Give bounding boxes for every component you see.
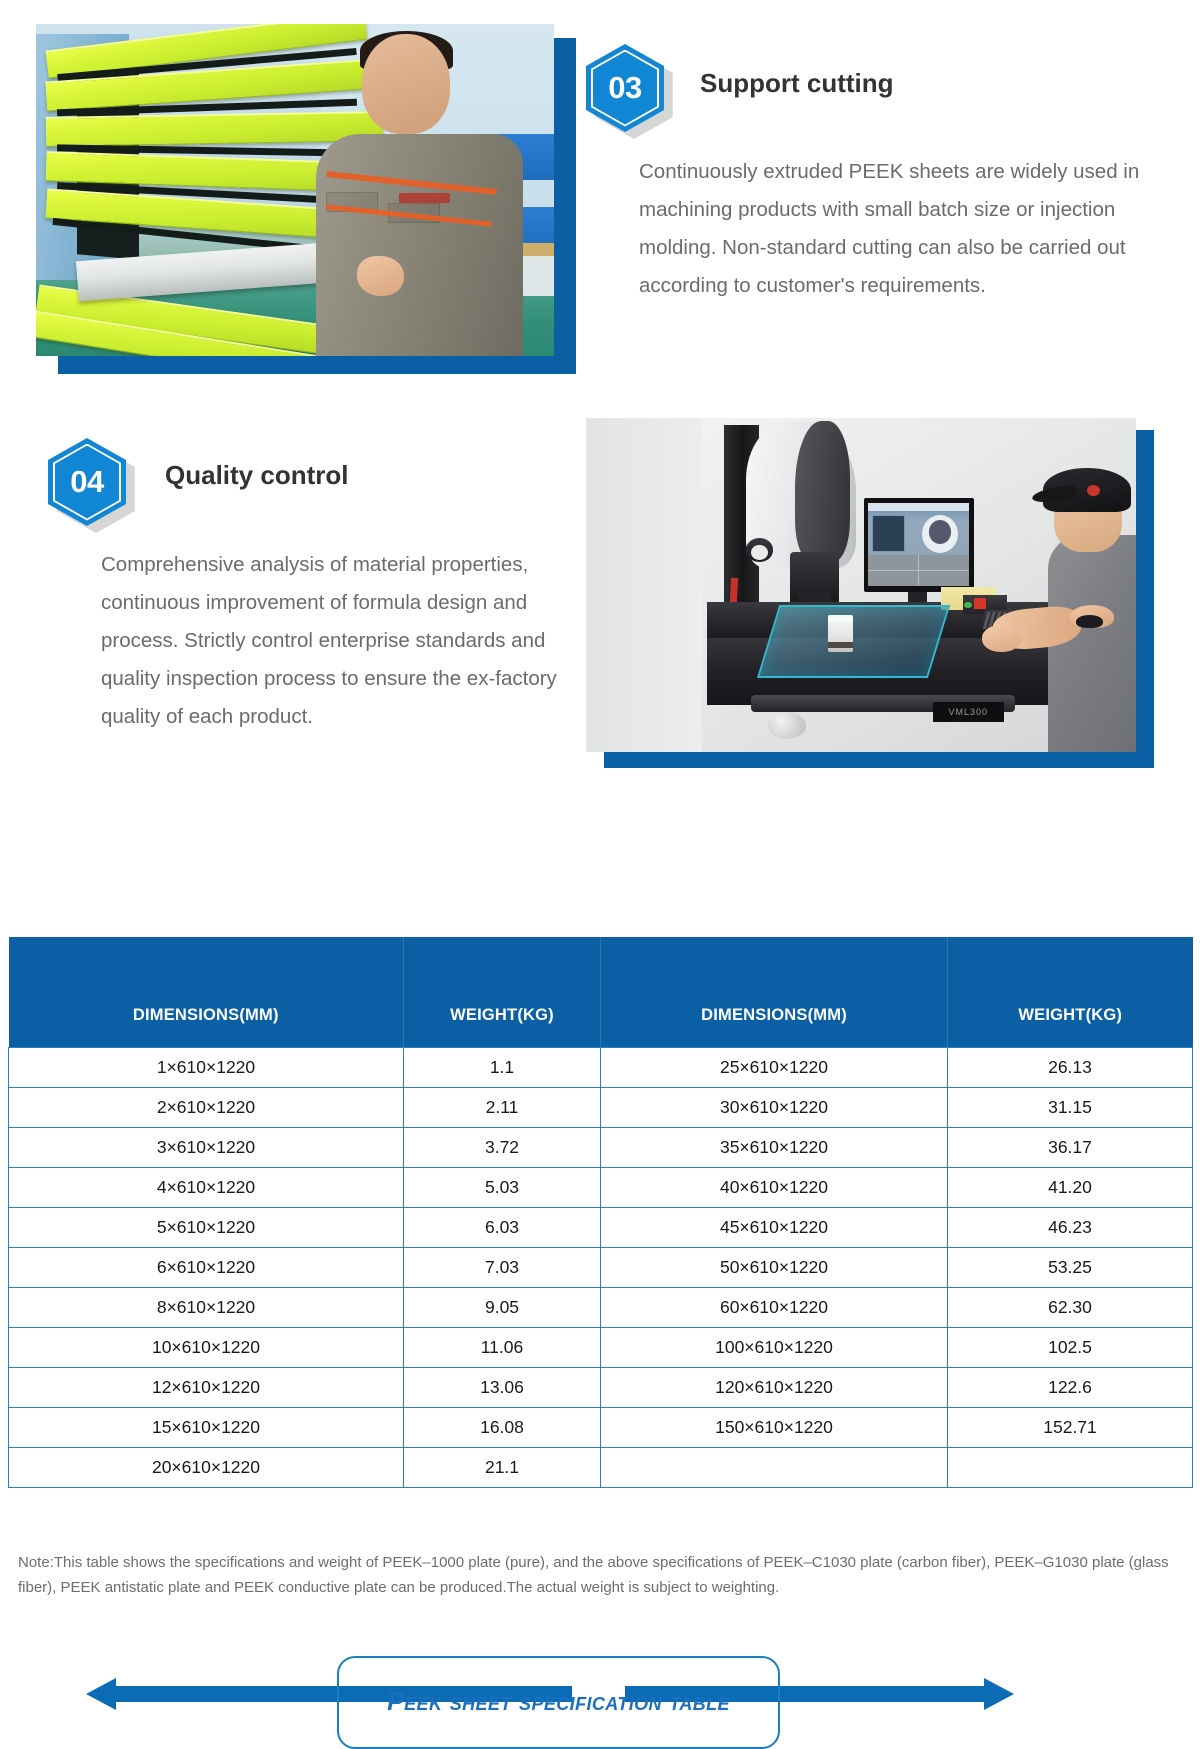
photo2-focus-knob-highlight [751, 545, 768, 560]
table-cell: 2×610×1220 [9, 1087, 404, 1127]
photo2-screen-measurement-dot [929, 520, 951, 543]
photo2-wall [586, 418, 702, 752]
photo2-screen-toolbar [868, 503, 969, 512]
photo1-worker-hand [357, 256, 404, 296]
table-cell: 16.08 [404, 1407, 601, 1447]
photo1-worker-body [316, 134, 523, 356]
table-cell: 25×610×1220 [601, 1047, 948, 1087]
table-cell: 6×610×1220 [9, 1247, 404, 1287]
optical-measuring-machine-photo: VML300 [586, 418, 1156, 768]
table-cell [948, 1447, 1193, 1487]
table-cell: 100×610×1220 [601, 1327, 948, 1367]
photo2-operator-hand [982, 625, 1021, 652]
table-cell: 4×610×1220 [9, 1167, 404, 1207]
table-cell: 1.1 [404, 1047, 601, 1087]
table-cell: 120×610×1220 [601, 1367, 948, 1407]
table-cell: 15×610×1220 [9, 1407, 404, 1447]
table-header-cell: DIMENSIONS(MM) [9, 937, 404, 1047]
section-body-support-cutting: Continuously extruded PEEK sheets are wi… [639, 153, 1144, 305]
table-row: 5×610×12206.0345×610×122046.23 [9, 1207, 1193, 1247]
table-cell: 5×610×1220 [9, 1207, 404, 1247]
table-row: 20×610×122021.1 [9, 1447, 1193, 1487]
table-cell: 36.17 [948, 1127, 1193, 1167]
section-body-quality-control: Comprehensive analysis of material prope… [101, 546, 573, 736]
badge-number-text: 03 [586, 44, 664, 132]
table-cell: 46.23 [948, 1207, 1193, 1247]
section-number-badge-03: 03 [586, 44, 664, 132]
table-cell: 3×610×1220 [9, 1127, 404, 1167]
table-cell: 41.20 [948, 1167, 1193, 1207]
photo1-uniform-logo [399, 193, 451, 203]
table-cell: 1×610×1220 [9, 1047, 404, 1087]
table-row: 2×610×12202.1130×610×122031.15 [9, 1087, 1193, 1127]
table-cell: 20×610×1220 [9, 1447, 404, 1487]
table-cell: 60×610×1220 [601, 1287, 948, 1327]
badge-number-text: 04 [48, 438, 126, 526]
table-cell: 122.6 [948, 1367, 1193, 1407]
table-cell: 50×610×1220 [601, 1247, 948, 1287]
table-row: 8×610×12209.0560×610×122062.30 [9, 1287, 1193, 1327]
specification-table-banner: Peek sheet specification table [0, 824, 1200, 934]
table-row: 3×610×12203.7235×610×122036.17 [9, 1127, 1193, 1167]
table-cell: 5.03 [404, 1167, 601, 1207]
table-header-row: DIMENSIONS(MM) WEIGHT(KG) DIMENSIONS(MM)… [9, 937, 1193, 1047]
table-cell: 21.1 [404, 1447, 601, 1487]
table-cell: 9.05 [404, 1287, 601, 1327]
photo2-screen-panel [872, 515, 905, 552]
table-cell: 7.03 [404, 1247, 601, 1287]
table-row: 15×610×122016.08150×610×1220152.71 [9, 1407, 1193, 1447]
photo-image-measuring-machine: VML300 [586, 418, 1136, 752]
table-cell: 8×610×1220 [9, 1287, 404, 1327]
photo2-container-band [828, 642, 853, 649]
table-row: 6×610×12207.0350×610×122053.25 [9, 1247, 1193, 1287]
table-row: 12×610×122013.06120×610×1220122.6 [9, 1367, 1193, 1407]
table-cell: 102.5 [948, 1327, 1193, 1367]
table-header-cell: WEIGHT(KG) [948, 937, 1193, 1047]
photo-image-worker [36, 24, 554, 356]
table-cell [601, 1447, 948, 1487]
table-cell: 30×610×1220 [601, 1087, 948, 1127]
section-title-support-cutting: Support cutting [700, 68, 894, 99]
photo2-cap-logo [1087, 485, 1100, 496]
section-title-quality-control: Quality control [165, 460, 348, 491]
table-cell: 150×610×1220 [601, 1407, 948, 1447]
table-cell: 11.06 [404, 1327, 601, 1367]
peek-sheet-specification-table: DIMENSIONS(MM) WEIGHT(KG) DIMENSIONS(MM)… [8, 937, 1193, 1488]
table-cell: 45×610×1220 [601, 1207, 948, 1247]
table-row: 10×610×122011.06100×610×1220102.5 [9, 1327, 1193, 1367]
table-cell: 152.71 [948, 1407, 1193, 1447]
table-footnote: Note:This table shows the specifications… [18, 1550, 1183, 1600]
worker-inspecting-peek-sheet-photo [36, 24, 576, 374]
banner-title: Peek sheet specification table [337, 1656, 780, 1749]
photo2-machine-model-label: VML300 [933, 702, 1005, 722]
photo2-housing-shadow [795, 421, 850, 561]
table-cell: 26.13 [948, 1047, 1193, 1087]
table-cell: 35×610×1220 [601, 1127, 948, 1167]
table-cell: 12×610×1220 [9, 1367, 404, 1407]
photo2-red-button [974, 598, 986, 609]
photo2-stage-roller [768, 712, 807, 739]
table-cell: 40×610×1220 [601, 1167, 948, 1207]
table-header-cell: WEIGHT(KG) [404, 937, 601, 1047]
table-cell: 31.15 [948, 1087, 1193, 1127]
table-row: 4×610×12205.0340×610×122041.20 [9, 1167, 1193, 1207]
table-header-cell: DIMENSIONS(MM) [601, 937, 948, 1047]
photo1-peek-slab [46, 111, 383, 147]
table-cell: 62.30 [948, 1287, 1193, 1327]
arrow-right-icon [984, 1678, 1014, 1710]
table-row: 1×610×12201.125×610×122026.13 [9, 1047, 1193, 1087]
table-cell: 13.06 [404, 1367, 601, 1407]
section-number-badge-04: 04 [48, 438, 126, 526]
table-cell: 2.11 [404, 1087, 601, 1127]
photo1-worker-head [362, 34, 450, 134]
photo2-screen-quadrant-view [868, 555, 969, 586]
table-cell: 10×610×1220 [9, 1327, 404, 1367]
table-cell: 6.03 [404, 1207, 601, 1247]
photo2-computer-mouse [1076, 615, 1104, 628]
table-cell: 3.72 [404, 1127, 601, 1167]
table-cell: 53.25 [948, 1247, 1193, 1287]
photo2-container-cap [828, 615, 853, 622]
table-body: 1×610×12201.125×610×122026.132×610×12202… [9, 1047, 1193, 1487]
